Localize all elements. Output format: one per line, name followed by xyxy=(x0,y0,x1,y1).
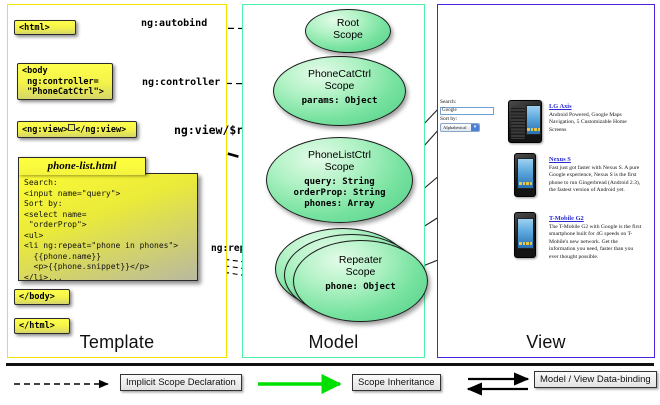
phone-image xyxy=(508,100,542,143)
sort-select-value: Alphabetical xyxy=(443,125,466,130)
view-search-panel: Search: Google Sort by: Alphabetical▾ xyxy=(440,99,500,132)
phone-image xyxy=(514,212,536,258)
legend-label-binding: Model / View Data-binding xyxy=(534,371,657,388)
phone-snippet: The T-Mobile G2 with Google is the first… xyxy=(549,224,642,261)
template-column-label: Template xyxy=(8,332,226,353)
model-column-label: Model xyxy=(243,332,424,353)
legend-label-implicit: Implicit Scope Declaration xyxy=(120,374,242,391)
phone-image xyxy=(514,153,536,197)
phone-name[interactable]: Nexus S xyxy=(549,156,642,163)
scope-root: RootScope xyxy=(305,9,391,53)
html-open-tag-box: <html> xyxy=(14,20,76,35)
ng-view-open-label: <ng:view> xyxy=(22,125,68,135)
scope-phonecatctrl-props: params: Object xyxy=(274,96,405,107)
scope-phonelistctrl-props: query: StringorderProp: Stringphones: Ar… xyxy=(267,177,412,211)
chevron-down-icon: ▾ xyxy=(471,124,479,132)
legend-divider xyxy=(6,363,654,366)
phone-name[interactable]: T-Mobile G2 xyxy=(549,215,642,222)
search-label: Search: xyxy=(440,99,500,106)
phone-list-note: phone-list.html Search: <input name="que… xyxy=(18,157,198,281)
phone-list-note-code: Search: <input name="query"> Sort by: <s… xyxy=(18,173,198,281)
phone-list-note-title: phone-list.html xyxy=(18,157,146,175)
scope-root-name: RootScope xyxy=(306,18,390,42)
scope-repeater-name: RepeaterScope xyxy=(294,255,427,279)
legend-item-inheritance: Scope Inheritance xyxy=(352,374,441,391)
html-close-tag-box: </html> xyxy=(14,318,70,334)
body-open-tag-box: <body ng:controller= "PhoneCatCtrl"> xyxy=(17,63,113,100)
diagram-canvas: Template <html> <body ng:controller= "Ph… xyxy=(0,0,660,405)
edge-label-ng-controller: ng:controller xyxy=(142,77,220,88)
legend-item-binding: Model / View Data-binding xyxy=(534,371,657,388)
body-close-tag-box: </body> xyxy=(14,289,70,305)
legend: Implicit Scope Declaration Scope Inherit… xyxy=(0,370,660,400)
scope-phonelistctrl: PhoneListCtrlScope query: StringorderPro… xyxy=(266,137,413,223)
ng-view-tag-box: <ng:view></ng:view> xyxy=(17,121,137,138)
edge-label-ng-autobind: ng:autobind xyxy=(141,18,207,29)
sort-label: Sort by: xyxy=(440,116,500,123)
phone-snippet: Fast just got faster with Nexus S. A pur… xyxy=(549,165,642,195)
phone-name[interactable]: LG Axis xyxy=(549,103,642,110)
scope-phonecatctrl: PhoneCatCtrlScope params: Object xyxy=(273,56,406,126)
scope-repeater-props: phone: Object xyxy=(294,282,427,293)
search-input[interactable]: Google xyxy=(440,107,494,115)
legend-label-inheritance: Scope Inheritance xyxy=(352,374,441,391)
phone-snippet: Android Powered, Google Maps Navigation,… xyxy=(549,112,642,134)
view-column-label: View xyxy=(438,332,654,353)
scope-repeater: RepeaterScope phone: Object xyxy=(293,240,428,322)
scope-phonelistctrl-name: PhoneListCtrlScope xyxy=(267,150,412,174)
ng-view-placeholder-icon xyxy=(68,124,75,131)
sort-select[interactable]: Alphabetical▾ xyxy=(440,123,480,132)
legend-item-implicit: Implicit Scope Declaration xyxy=(120,374,242,391)
ng-view-close-label: </ng:view> xyxy=(75,125,126,135)
scope-phonecatctrl-name: PhoneCatCtrlScope xyxy=(274,69,405,93)
